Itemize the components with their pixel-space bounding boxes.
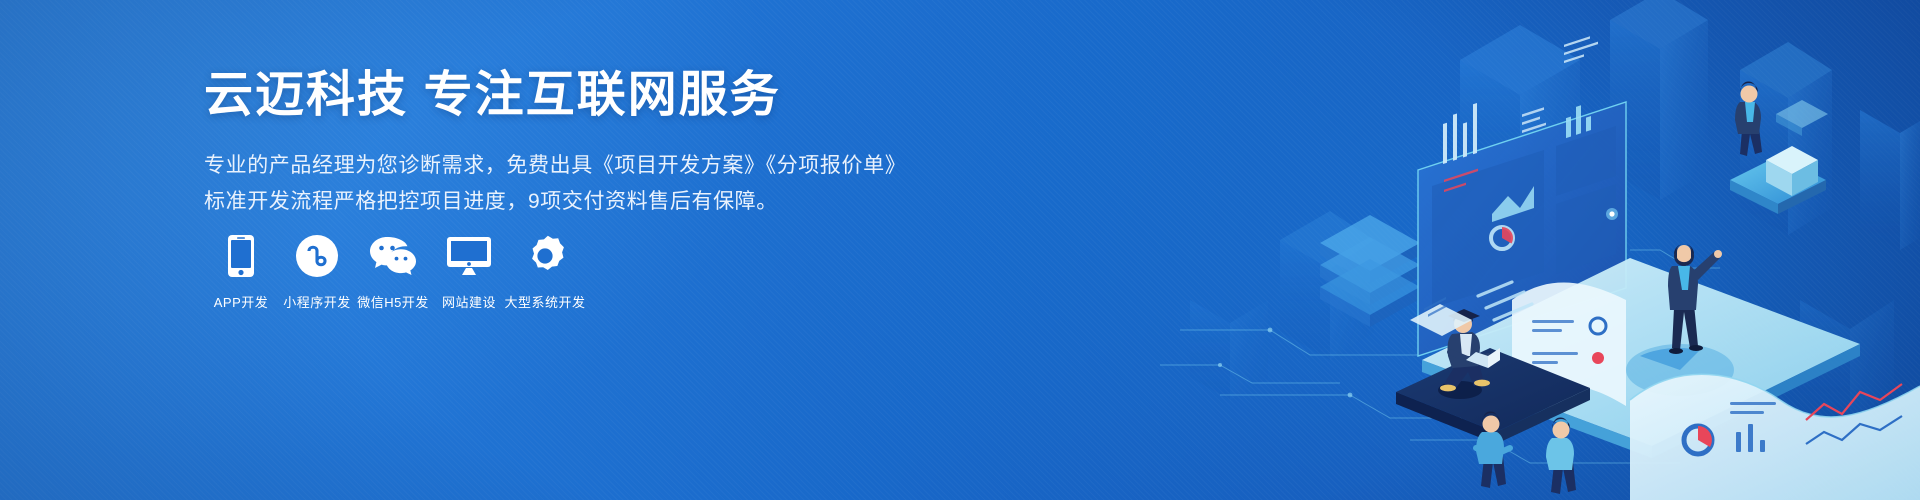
service-item-wechat-h5[interactable]: 微信H5开发 bbox=[356, 232, 430, 311]
mini-program-icon bbox=[293, 232, 341, 280]
monitor-icon bbox=[445, 232, 493, 280]
service-label: APP开发 bbox=[214, 292, 269, 311]
subtitle-line-1: 专业的产品经理为您诊断需求，免费出具《项目开发方案》《分项报价单》 bbox=[204, 148, 964, 184]
service-item-mini-program[interactable]: 小程序开发 bbox=[280, 232, 354, 311]
subtitle-line-2: 标准开发流程严格把控项目进度，9项交付资料售后有保障。 bbox=[204, 184, 964, 220]
hero-banner: 云迈科技 专注互联网服务 专业的产品经理为您诊断需求，免费出具《项目开发方案》《… bbox=[0, 0, 1920, 500]
service-label: 微信H5开发 bbox=[357, 292, 429, 311]
service-item-large-system[interactable]: 大型系统开发 bbox=[508, 232, 582, 311]
service-list: APP开发 小程序开发 微信 bbox=[204, 232, 584, 311]
mobile-phone-icon bbox=[217, 232, 265, 280]
service-label: 大型系统开发 bbox=[505, 292, 586, 311]
hero-copy: 云迈科技 专注互联网服务 专业的产品经理为您诊断需求，免费出具《项目开发方案》《… bbox=[204, 66, 964, 220]
service-item-app[interactable]: APP开发 bbox=[204, 232, 278, 311]
service-item-website[interactable]: 网站建设 bbox=[432, 232, 506, 311]
hero-subtitle: 专业的产品经理为您诊断需求，免费出具《项目开发方案》《分项报价单》 标准开发流程… bbox=[204, 148, 964, 220]
service-label: 小程序开发 bbox=[283, 292, 351, 311]
service-label: 网站建设 bbox=[442, 292, 496, 311]
gear-icon bbox=[521, 232, 569, 280]
page-title: 云迈科技 专注互联网服务 bbox=[204, 66, 964, 126]
wechat-icon bbox=[369, 232, 417, 280]
illustration bbox=[1160, 0, 1920, 500]
